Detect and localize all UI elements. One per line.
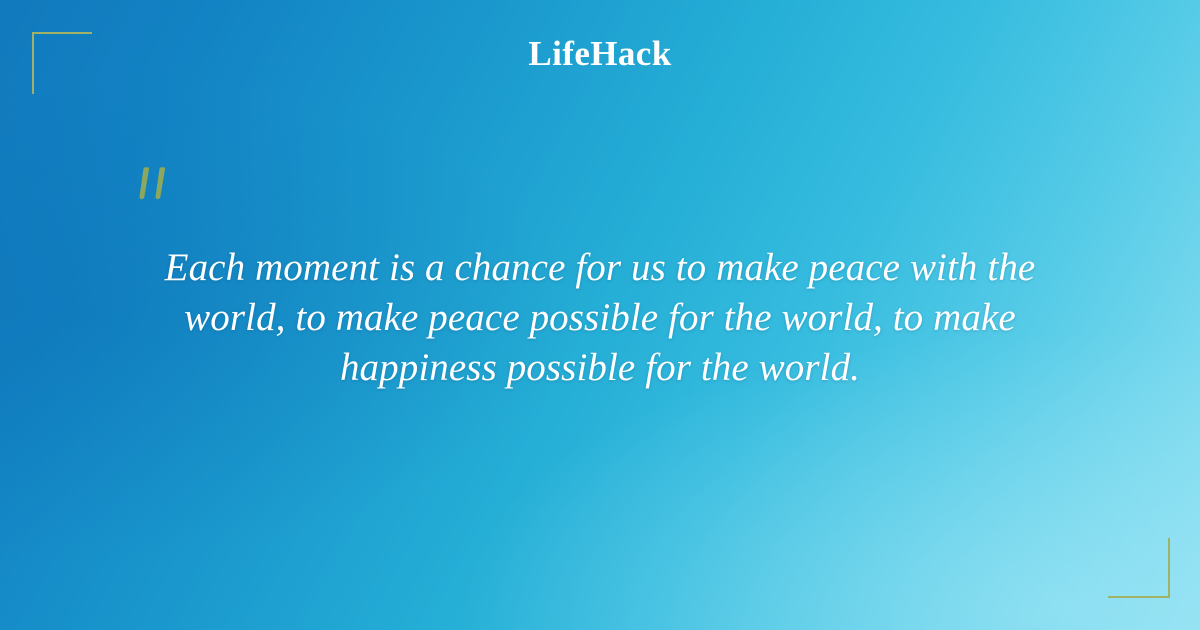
quote-card: LifeHack Each moment is a chance for us … bbox=[0, 0, 1200, 630]
corner-bracket-top-left-vertical-bar bbox=[32, 32, 34, 94]
quote-mark-icon bbox=[133, 163, 193, 223]
corner-bracket-top-left-horizontal-bar bbox=[32, 32, 92, 34]
corner-bracket-bottom-right-horizontal-bar bbox=[1108, 596, 1170, 598]
lifehack-logo: LifeHack bbox=[0, 36, 1200, 71]
quote-text: Each moment is a chance for us to make p… bbox=[130, 243, 1070, 393]
quote-block: Each moment is a chance for us to make p… bbox=[130, 243, 1070, 393]
quote-card-content: LifeHack Each moment is a chance for us … bbox=[0, 0, 1200, 630]
corner-bracket-bottom-right-vertical-bar bbox=[1168, 538, 1170, 598]
corner-bracket-top-left bbox=[32, 32, 92, 94]
corner-bracket-bottom-right bbox=[1108, 538, 1170, 598]
